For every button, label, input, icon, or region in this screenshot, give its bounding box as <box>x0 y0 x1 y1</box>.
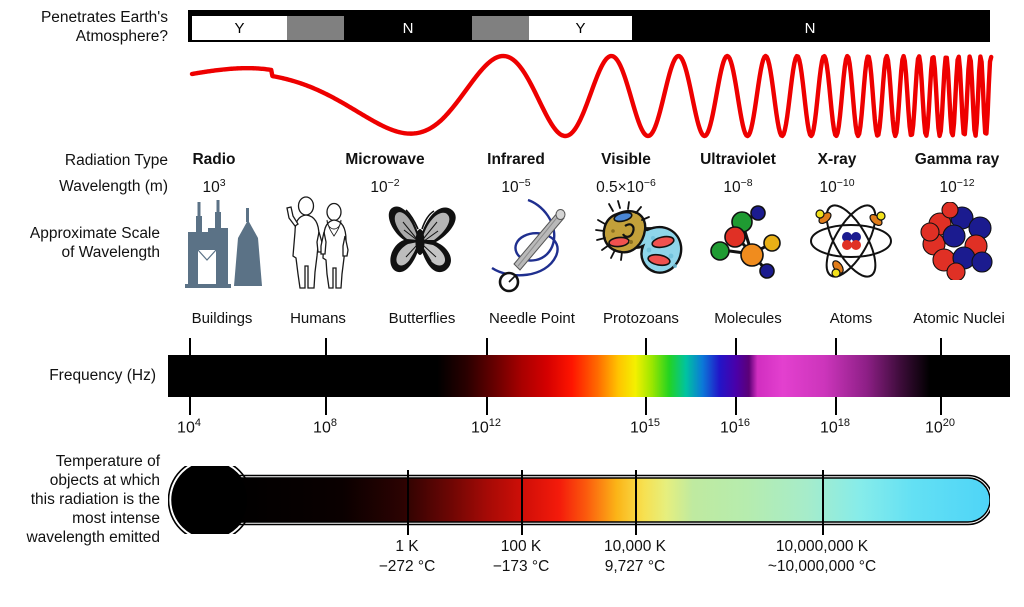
frequency-spectrum-bar <box>168 355 1010 397</box>
frequency-tick-bottom-3 <box>486 397 488 415</box>
buildings-icon <box>182 198 262 290</box>
scale-label-needle-point: Needle Point <box>489 310 575 327</box>
scale-label-butterflies: Butterflies <box>389 310 456 327</box>
scale-label-buildings: Buildings <box>192 310 253 327</box>
wavelength-value-1: 103 <box>202 177 225 197</box>
frequency-tick-bottom-5 <box>735 397 737 415</box>
wavelength-value-7: 10−12 <box>939 177 974 197</box>
atmosphere-penetration-bar: YNYN <box>188 10 990 42</box>
scale-row-label-line2: of Wavelength <box>0 243 160 262</box>
atmosphere-segment-answer: N <box>805 20 816 37</box>
frequency-tick-label-5: 1016 <box>720 417 750 437</box>
protozoa-icon <box>593 200 689 282</box>
needle-icon <box>484 194 580 294</box>
em-spectrum-diagram: Penetrates Earth's Atmosphere? Radiation… <box>0 0 1024 607</box>
atmosphere-segment-6: N <box>632 16 988 40</box>
temperature-row-label-line4: most intense <box>0 509 160 528</box>
atmosphere-segment-3: N <box>344 16 472 40</box>
wavelength-value-5: 10−8 <box>723 177 752 197</box>
frequency-tick-label-1: 104 <box>177 417 201 437</box>
temperature-celsius: 9,727 °C <box>604 557 666 577</box>
frequency-mantissa: 10 <box>177 419 195 436</box>
frequency-tick-top-2 <box>325 338 327 356</box>
frequency-mantissa: 10 <box>925 419 943 436</box>
radiation-type-gamma-ray: Gamma ray <box>915 151 999 169</box>
wavelength-mantissa: 0.5×10 <box>596 179 644 196</box>
frequency-exponent: 18 <box>838 417 850 429</box>
temperature-row-label-line5: wavelength emitted <box>0 528 160 547</box>
temperature-kelvin: 10,000 K <box>604 537 666 557</box>
atmosphere-segment-answer: N <box>403 20 414 37</box>
butterfly-icon <box>376 200 468 284</box>
temperature-tick-label-3: 10,000 K9,727 °C <box>604 537 666 577</box>
frequency-tick-bottom-2 <box>325 397 327 415</box>
frequency-tick-top-3 <box>486 338 488 356</box>
wavelength-mantissa: 10 <box>723 179 740 196</box>
frequency-exponent: 16 <box>738 417 750 429</box>
frequency-mantissa: 10 <box>313 419 331 436</box>
frequency-tick-bottom-6 <box>835 397 837 415</box>
frequency-tick-label-4: 1015 <box>630 417 660 437</box>
wavelength-exponent: −6 <box>644 177 656 189</box>
temperature-tick-label-4: 10,000,000 K~10,000,000 °C <box>768 537 876 577</box>
temperature-row-label: Temperature of objects at which this rad… <box>0 452 160 547</box>
temperature-row-label-line2: objects at which <box>0 471 160 490</box>
scale-label-molecules: Molecules <box>714 310 782 327</box>
atmosphere-segment-answer: Y <box>575 20 585 37</box>
scale-label-atomic-nuclei: Atomic Nuclei <box>913 310 1005 327</box>
wavelength-mantissa: 10 <box>819 179 836 196</box>
wavelength-exponent: 3 <box>220 177 226 189</box>
scale-label-protozoans: Protozoans <box>603 310 679 327</box>
wavelength-exponent: −5 <box>519 177 531 189</box>
temperature-kelvin: 10,000,000 K <box>768 537 876 557</box>
wavelength-exponent: −12 <box>957 177 975 189</box>
temperature-celsius: ~10,000,000 °C <box>768 557 876 577</box>
scale-label-atoms: Atoms <box>830 310 873 327</box>
frequency-tick-label-7: 1020 <box>925 417 955 437</box>
temperature-tick-label-2: 100 K−173 °C <box>493 537 550 577</box>
frequency-tick-label-3: 1012 <box>471 417 501 437</box>
frequency-tick-bottom-4 <box>645 397 647 415</box>
temperature-thermometer <box>168 466 990 534</box>
wavelength-mantissa: 10 <box>939 179 956 196</box>
frequency-mantissa: 10 <box>820 419 838 436</box>
wavelength-value-2: 10−2 <box>370 177 399 197</box>
atmosphere-row-label-line2: Atmosphere? <box>0 27 168 46</box>
radiation-type-infrared: Infrared <box>487 151 545 169</box>
scale-label-humans: Humans <box>290 310 346 327</box>
wavelength-value-4: 0.5×10−6 <box>596 177 656 197</box>
wavelength-row-label: Wavelength (m) <box>0 177 168 196</box>
temperature-tick-3 <box>635 470 637 535</box>
electromagnetic-wave-graphic <box>180 44 1000 149</box>
temperature-kelvin: 100 K <box>493 537 550 557</box>
wavelength-exponent: −8 <box>741 177 753 189</box>
frequency-tick-top-7 <box>940 338 942 356</box>
temperature-tick-1 <box>407 470 409 535</box>
atmosphere-segment-answer: Y <box>234 20 244 37</box>
temperature-row-label-line3: this radiation is the <box>0 490 160 509</box>
frequency-mantissa: 10 <box>630 419 648 436</box>
radiation-type-x-ray: X-ray <box>818 151 857 169</box>
wavelength-mantissa: 10 <box>202 179 219 196</box>
temperature-tick-label-1: 1 K−272 °C <box>379 537 436 577</box>
frequency-tick-bottom-7 <box>940 397 942 415</box>
atmosphere-segment-1: Y <box>192 16 287 40</box>
frequency-tick-top-1 <box>189 338 191 356</box>
frequency-mantissa: 10 <box>471 419 489 436</box>
radiation-type-row-label: Radiation Type <box>0 151 168 170</box>
atmosphere-row-label-line1: Penetrates Earth's <box>0 8 168 27</box>
atmosphere-segment-2 <box>287 16 344 40</box>
radiation-type-radio: Radio <box>192 151 235 169</box>
scale-row-label-line1: Approximate Scale <box>0 224 160 243</box>
temperature-celsius: −173 °C <box>493 557 550 577</box>
humans-icon <box>278 196 358 290</box>
atmosphere-segment-5: Y <box>529 16 632 40</box>
frequency-exponent: 12 <box>489 417 501 429</box>
frequency-tick-top-4 <box>645 338 647 356</box>
frequency-tick-top-5 <box>735 338 737 356</box>
radiation-type-microwave: Microwave <box>345 151 424 169</box>
temperature-tick-2 <box>521 470 523 535</box>
atmosphere-segment-4 <box>472 16 529 40</box>
temperature-row-label-line1: Temperature of <box>0 452 160 471</box>
frequency-tick-label-6: 1018 <box>820 417 850 437</box>
wavelength-value-6: 10−10 <box>819 177 854 197</box>
molecule-icon <box>706 198 790 284</box>
frequency-exponent: 20 <box>943 417 955 429</box>
temperature-kelvin: 1 K <box>379 537 436 557</box>
atmosphere-row-label: Penetrates Earth's Atmosphere? <box>0 8 168 46</box>
atomic-nuclei-icon <box>920 202 998 280</box>
frequency-tick-bottom-1 <box>189 397 191 415</box>
radiation-type-visible: Visible <box>601 151 651 169</box>
frequency-tick-top-6 <box>835 338 837 356</box>
frequency-exponent: 15 <box>648 417 660 429</box>
scale-row-label: Approximate Scale of Wavelength <box>0 224 160 262</box>
temperature-celsius: −272 °C <box>379 557 436 577</box>
wavelength-exponent: −10 <box>837 177 855 189</box>
frequency-tick-label-2: 108 <box>313 417 337 437</box>
wavelength-exponent: −2 <box>388 177 400 189</box>
radiation-type-ultraviolet: Ultraviolet <box>700 151 776 169</box>
temperature-tick-4 <box>822 470 824 535</box>
wavelength-mantissa: 10 <box>370 179 387 196</box>
frequency-mantissa: 10 <box>720 419 738 436</box>
frequency-exponent: 8 <box>331 417 337 429</box>
frequency-exponent: 4 <box>195 417 201 429</box>
frequency-row-label: Frequency (Hz) <box>0 366 156 385</box>
atom-icon <box>805 198 897 284</box>
